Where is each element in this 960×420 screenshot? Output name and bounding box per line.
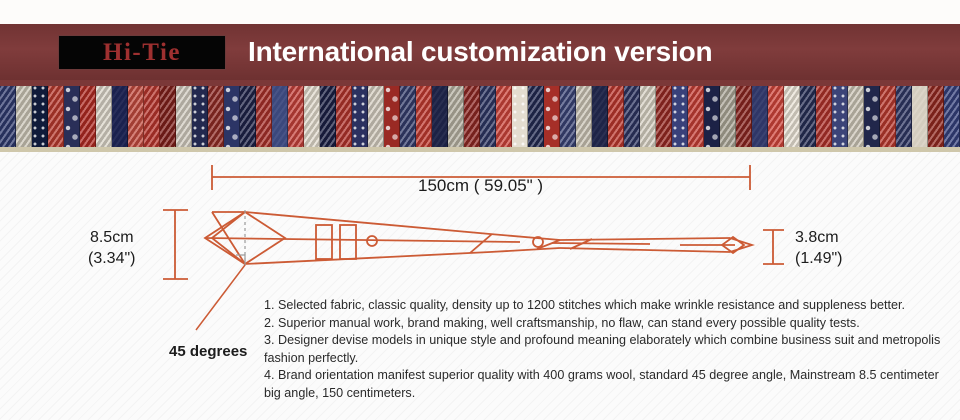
blade-marker-rect-1 xyxy=(316,225,332,259)
necktie-thumb xyxy=(784,85,800,149)
necktie-thumb xyxy=(544,85,560,149)
necktie-thumb xyxy=(864,85,880,149)
necktie-thumb xyxy=(320,85,336,149)
necktie-thumb xyxy=(32,85,48,149)
header-bar: Hi-Tie International customization versi… xyxy=(0,24,960,80)
necktie-thumb xyxy=(496,85,512,149)
necktie-thumb xyxy=(928,85,944,149)
neck-seam-diagonal-1 xyxy=(470,234,492,253)
necktie-thumb xyxy=(832,85,848,149)
blade-center-seam xyxy=(205,238,520,242)
necktie-thumb xyxy=(672,85,688,149)
necktie-thumb xyxy=(272,85,288,149)
necktie-thumb xyxy=(464,85,480,149)
necktie-row xyxy=(0,85,960,149)
necktie-thumb xyxy=(384,85,400,149)
top-dimension-label: 150cm ( 59.05" ) xyxy=(418,176,543,196)
necktie-thumb xyxy=(224,85,240,149)
necktie-thumb xyxy=(288,85,304,149)
right-dimension-label: 3.8cm (1.49") xyxy=(795,227,842,269)
necktie-thumb xyxy=(560,85,576,149)
right-dimension-cm: 3.8cm xyxy=(795,227,842,248)
necktie-thumb xyxy=(256,85,272,149)
left-dimension-cm: 8.5cm xyxy=(88,227,135,248)
specification-item: 3. Designer devise models in unique styl… xyxy=(264,332,954,367)
necktie-thumb xyxy=(768,85,784,149)
necktie-thumb xyxy=(816,85,832,149)
neck-center-seam xyxy=(552,243,650,244)
necktie-thumb xyxy=(128,85,144,149)
right-dimension-inch: (1.49") xyxy=(795,248,842,269)
necktie-thumb xyxy=(592,85,608,149)
tail-lower-edge xyxy=(560,248,730,252)
necktie-thumb xyxy=(352,85,368,149)
specification-item: 2. Superior manual work, brand making, w… xyxy=(264,315,954,333)
necktie-thumb xyxy=(720,85,736,149)
necktie-thumb xyxy=(144,85,160,149)
brand-logo-text: Hi-Tie xyxy=(103,40,181,65)
necktie-thumb xyxy=(16,85,32,149)
tail-upper-edge xyxy=(560,238,730,240)
necktie-thumb xyxy=(688,85,704,149)
necktie-thumb xyxy=(512,85,528,149)
strip-top-band xyxy=(0,80,960,86)
necktie-thumb xyxy=(880,85,896,149)
header-title: International customization version xyxy=(248,36,712,68)
angle-label: 45 degrees xyxy=(169,343,247,360)
necktie-thumb xyxy=(176,85,192,149)
angle-leader-line xyxy=(196,265,245,330)
necktie-thumb xyxy=(0,85,16,149)
necktie-thumb xyxy=(800,85,816,149)
necktie-thumb xyxy=(944,85,960,149)
necktie-thumb xyxy=(64,85,80,149)
necktie-thumb xyxy=(240,85,256,149)
necktie-thumb xyxy=(400,85,416,149)
necktie-thumb xyxy=(624,85,640,149)
specification-item: 1. Selected fabric, classic quality, den… xyxy=(264,297,954,315)
necktie-thumb xyxy=(208,85,224,149)
necktie-thumb xyxy=(480,85,496,149)
necktie-thumb xyxy=(448,85,464,149)
blade-upper-edge xyxy=(212,212,560,240)
necktie-thumb xyxy=(112,85,128,149)
necktie-thumb xyxy=(528,85,544,149)
necktie-thumb xyxy=(432,85,448,149)
necktie-thumb xyxy=(96,85,112,149)
necktie-thumb xyxy=(160,85,176,149)
strip-bottom-band xyxy=(0,147,960,152)
necktie-thumb xyxy=(736,85,752,149)
necktie-thumb xyxy=(192,85,208,149)
specification-list: 1. Selected fabric, classic quality, den… xyxy=(264,297,954,403)
necktie-thumb xyxy=(368,85,384,149)
necktie-thumb xyxy=(576,85,592,149)
necktie-thumb xyxy=(656,85,672,149)
necktie-thumb xyxy=(416,85,432,149)
specification-item: 4. Brand orientation manifest superior q… xyxy=(264,367,954,402)
necktie-thumb xyxy=(640,85,656,149)
necktie-thumb xyxy=(848,85,864,149)
necktie-thumb xyxy=(704,85,720,149)
necktie-thumb xyxy=(608,85,624,149)
necktie-thumb xyxy=(896,85,912,149)
brand-logo: Hi-Tie xyxy=(58,35,226,70)
left-dimension-inch: (3.34") xyxy=(88,248,135,269)
top-gutter xyxy=(0,0,960,24)
necktie-thumb xyxy=(912,85,928,149)
necktie-photo-strip xyxy=(0,80,960,152)
necktie-thumb xyxy=(336,85,352,149)
necktie-thumb xyxy=(752,85,768,149)
blade-marker-rect-2 xyxy=(340,225,356,259)
necktie-thumb xyxy=(80,85,96,149)
necktie-thumb xyxy=(48,85,64,149)
left-dimension-label: 8.5cm (3.34") xyxy=(88,227,135,269)
necktie-thumb xyxy=(304,85,320,149)
product-banner-page: Hi-Tie International customization versi… xyxy=(0,0,960,420)
